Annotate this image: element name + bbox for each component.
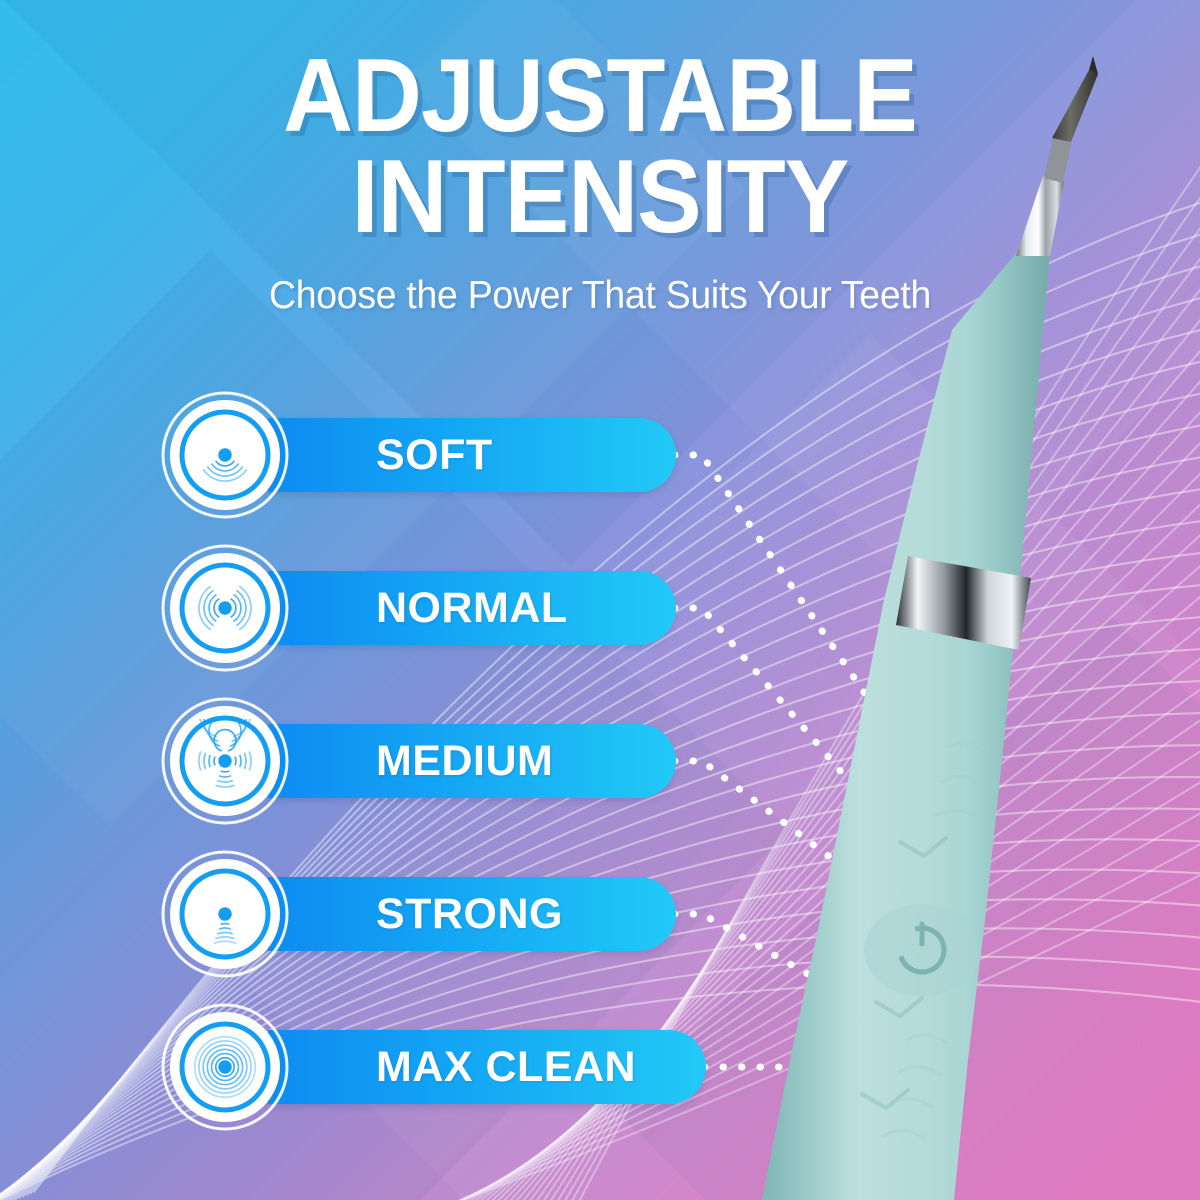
intensity-level-badge[interactable] bbox=[160, 696, 290, 826]
intensity-level-badge[interactable] bbox=[160, 1002, 290, 1132]
wave-medium-icon bbox=[183, 719, 267, 803]
intensity-level-list: SOFTNORMALMEDIUMSTRONGMAX CLEAN bbox=[0, 0, 1200, 1200]
intensity-level-label: NORMAL bbox=[376, 584, 568, 633]
infographic-canvas: ADJUSTABLE INTENSITY Choose the Power Th… bbox=[0, 0, 1200, 1200]
intensity-level-label: MAX CLEAN bbox=[376, 1043, 636, 1092]
wave-strong-icon bbox=[183, 872, 267, 956]
intensity-level-pill-medium[interactable]: MEDIUM bbox=[268, 724, 676, 798]
intensity-level-pill-strong[interactable]: STRONG bbox=[268, 877, 676, 951]
wave-max-clean-icon bbox=[183, 1025, 267, 1109]
wave-normal-icon bbox=[183, 566, 267, 650]
intensity-level-label: MEDIUM bbox=[376, 737, 553, 786]
intensity-level-badge[interactable] bbox=[160, 849, 290, 979]
intensity-level-badge[interactable] bbox=[160, 543, 290, 673]
intensity-level-pill-max-clean[interactable]: MAX CLEAN bbox=[268, 1030, 706, 1104]
intensity-level-label: STRONG bbox=[376, 890, 563, 939]
intensity-level-label: SOFT bbox=[376, 431, 493, 480]
intensity-level-badge[interactable] bbox=[160, 390, 290, 520]
intensity-level-pill-normal[interactable]: NORMAL bbox=[268, 571, 676, 645]
wave-soft-icon bbox=[183, 413, 267, 497]
intensity-level-pill-soft[interactable]: SOFT bbox=[268, 418, 676, 492]
